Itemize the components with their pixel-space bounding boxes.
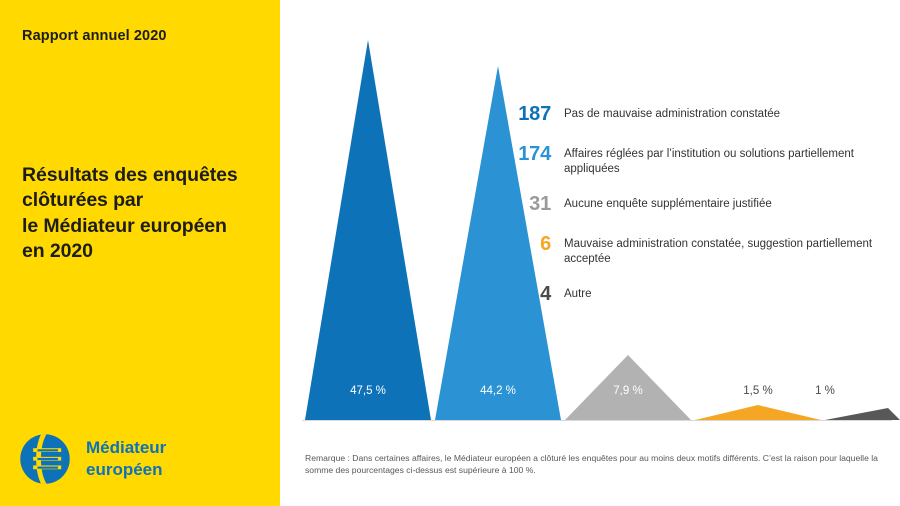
legend-row-1: 187 Pas de mauvaise administration const… — [505, 103, 895, 127]
chart-pct-label-2: 44,2 % — [480, 385, 516, 397]
chart-pct-label-4: 1,5 % — [743, 385, 772, 397]
page-title-line-1: Résultats des enquêtes — [22, 163, 274, 188]
report-kicker: Rapport annuel 2020 — [22, 28, 167, 44]
ombudsman-logo: Médiateur européen — [18, 432, 166, 486]
legend-row-3: 31 Aucune enquête supplémentaire justifi… — [505, 193, 895, 217]
page-title-line-2: clôturées par — [22, 188, 274, 213]
legend-label-5: Autre — [564, 283, 895, 302]
left-yellow-panel: Rapport annuel 2020 Résultats des enquêt… — [0, 0, 280, 506]
ombudsman-emblem-icon — [18, 432, 72, 486]
legend-value-4: 6 — [505, 233, 551, 257]
infographic-page: Rapport annuel 2020 Résultats des enquêt… — [0, 0, 900, 506]
right-content-panel: 47,5 % 44,2 % 7,9 % 1,5 % 1 % 187 Pas de… — [280, 0, 900, 506]
legend-value-1: 187 — [505, 103, 551, 127]
chart-pct-label-3: 7,9 % — [613, 385, 642, 397]
page-title-line-4: en 2020 — [22, 239, 274, 264]
legend-label-1: Pas de mauvaise administration constatée — [564, 103, 895, 122]
legend-row-2: 174 Affaires réglées par l’institution o… — [505, 143, 895, 178]
legend-row-4: 6 Mauvaise administration constatée, sug… — [505, 233, 895, 268]
chart-triangle-1 — [305, 40, 431, 420]
page-title: Résultats des enquêtes clôturées par le … — [22, 163, 274, 264]
legend-label-2: Affaires réglées par l’institution ou so… — [564, 143, 895, 178]
legend-row-5: 4 Autre — [505, 283, 895, 307]
legend-value-5: 4 — [505, 283, 551, 307]
legend-label-4: Mauvaise administration constatée, sugge… — [564, 233, 895, 268]
chart-legend: 187 Pas de mauvaise administration const… — [505, 103, 895, 307]
chart-pct-label-1: 47,5 % — [350, 385, 386, 397]
legend-value-2: 174 — [505, 143, 551, 167]
legend-value-3: 31 — [505, 193, 551, 217]
ombudsman-logo-text: Médiateur européen — [86, 437, 166, 481]
chart-pct-label-5: 1 % — [815, 385, 835, 397]
logo-text-line-2: européen — [86, 459, 166, 481]
legend-label-3: Aucune enquête supplémentaire justifiée — [564, 193, 895, 212]
page-title-line-3: le Médiateur européen — [22, 214, 274, 239]
footnote-note: Remarque : Dans certaines affaires, le M… — [305, 452, 887, 477]
logo-text-line-1: Médiateur — [86, 437, 166, 459]
